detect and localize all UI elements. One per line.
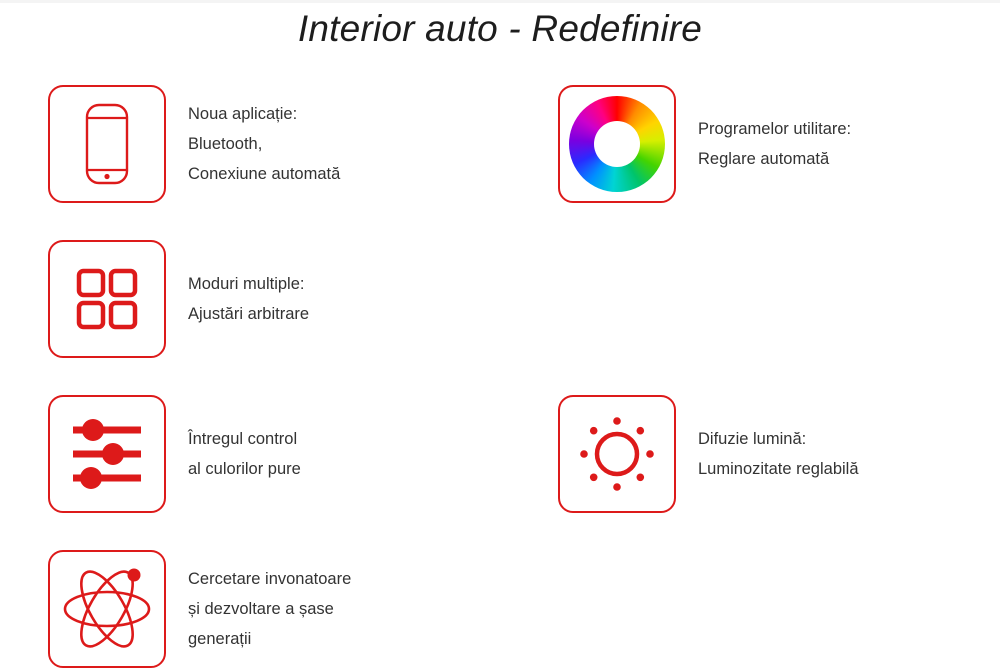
feature-line: Noua aplicație: bbox=[188, 99, 340, 129]
feature-line: Luminozitate reglabilă bbox=[698, 454, 859, 484]
color-wheel-icon bbox=[558, 85, 676, 203]
feature-row-modes: Moduri multiple: Ajustări arbitrare bbox=[48, 240, 309, 358]
atom-icon bbox=[48, 550, 166, 668]
feature-line: Difuzie lumină: bbox=[698, 424, 859, 454]
feature-line: Cercetare invonatoare bbox=[188, 564, 351, 594]
feature-line: al culorilor pure bbox=[188, 454, 301, 484]
feature-text-programs: Programelor utilitare: Reglare automată bbox=[698, 114, 851, 174]
feature-row-color-control: Întregul control al culorilor pure bbox=[48, 395, 301, 513]
feature-row-programs: Programelor utilitare: Reglare automată bbox=[558, 85, 851, 203]
grid-icon bbox=[48, 240, 166, 358]
feature-line: Programelor utilitare: bbox=[698, 114, 851, 144]
smartphone-icon bbox=[48, 85, 166, 203]
top-edge-divider bbox=[0, 0, 1000, 3]
sun-brightness-icon bbox=[558, 395, 676, 513]
sliders-icon bbox=[48, 395, 166, 513]
feature-text-diffusion: Difuzie lumină: Luminozitate reglabilă bbox=[698, 424, 859, 484]
feature-line: Conexiune automată bbox=[188, 159, 340, 189]
feature-line: generații bbox=[188, 624, 351, 654]
feature-line: Reglare automată bbox=[698, 144, 851, 174]
feature-line: Bluetooth, bbox=[188, 129, 340, 159]
feature-text-app: Noua aplicație: Bluetooth, Conexiune aut… bbox=[188, 99, 340, 189]
feature-row-diffusion: Difuzie lumină: Luminozitate reglabilă bbox=[558, 395, 859, 513]
feature-line: Ajustări arbitrare bbox=[188, 299, 309, 329]
feature-line: Moduri multiple: bbox=[188, 269, 309, 299]
feature-text-color-control: Întregul control al culorilor pure bbox=[188, 424, 301, 484]
feature-text-modes: Moduri multiple: Ajustări arbitrare bbox=[188, 269, 309, 329]
feature-row-app: Noua aplicație: Bluetooth, Conexiune aut… bbox=[48, 85, 340, 203]
feature-line: Întregul control bbox=[188, 424, 301, 454]
page-title: Interior auto - Redefinire bbox=[0, 8, 1000, 50]
color-wheel-ring bbox=[569, 96, 665, 192]
feature-row-research: Cercetare invonatoare și dezvoltare a șa… bbox=[48, 550, 351, 668]
feature-line: și dezvoltare a șase bbox=[188, 594, 351, 624]
feature-text-research: Cercetare invonatoare și dezvoltare a șa… bbox=[188, 564, 351, 654]
